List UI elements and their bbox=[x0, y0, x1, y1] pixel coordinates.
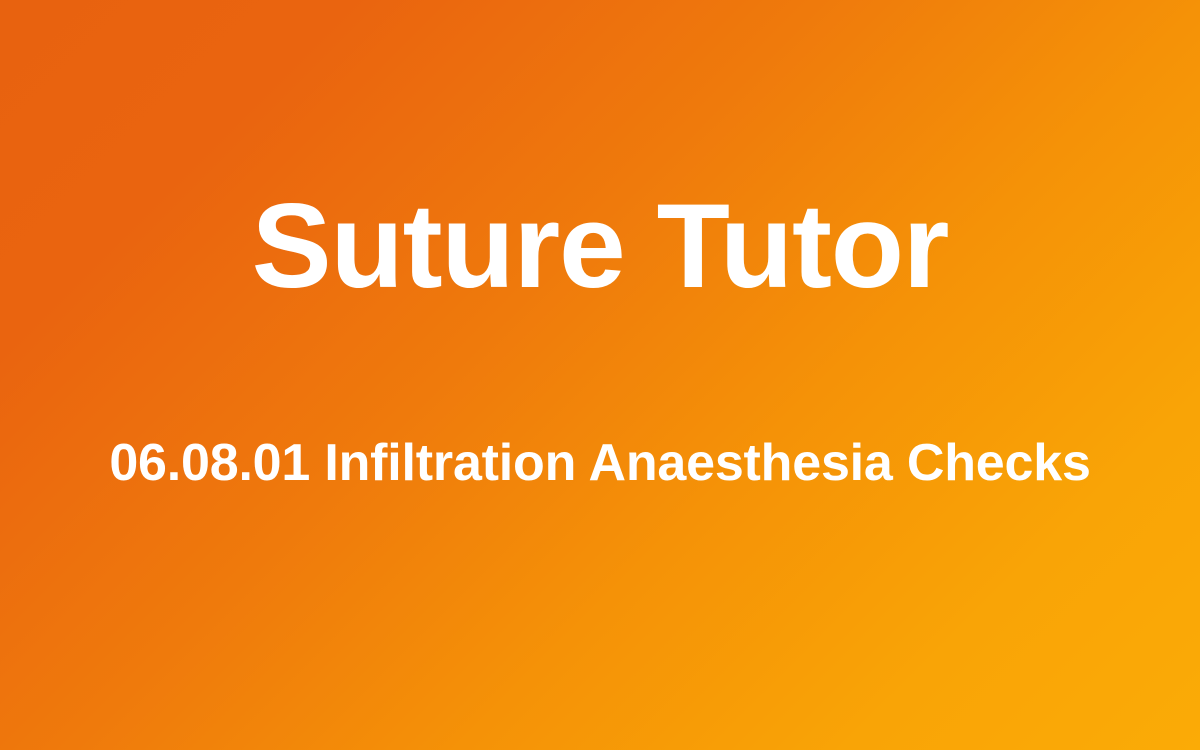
page-title: Suture Tutor bbox=[0, 186, 1200, 306]
slide-content: Suture Tutor 06.08.01 Infiltration Anaes… bbox=[0, 0, 1200, 750]
slide-subtitle: 06.08.01 Infiltration Anaesthesia Checks bbox=[0, 437, 1200, 489]
title-slide: Suture Tutor 06.08.01 Infiltration Anaes… bbox=[0, 0, 1200, 750]
